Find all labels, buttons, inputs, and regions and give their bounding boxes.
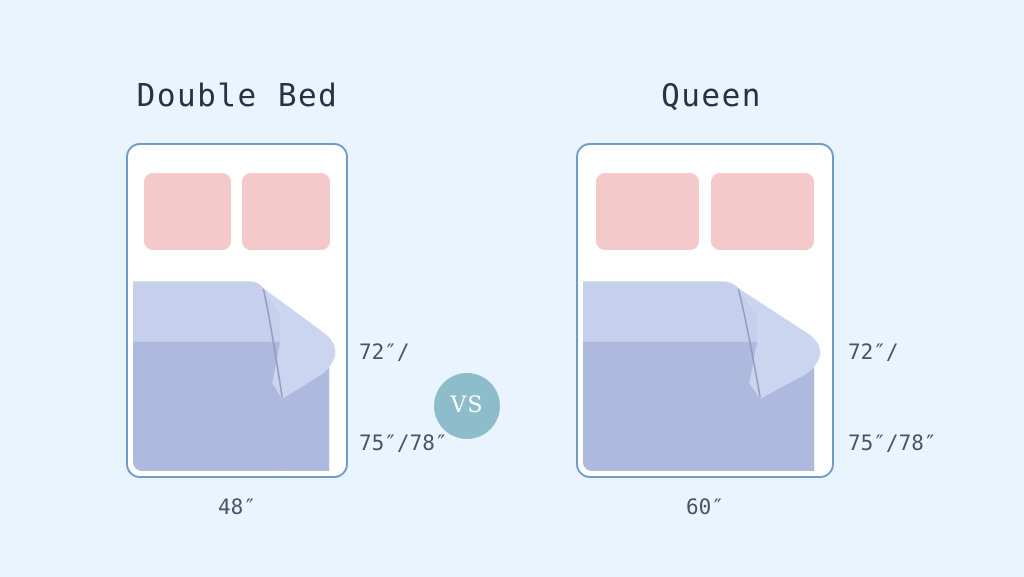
dimension-label-double-width: 48″ — [126, 495, 348, 519]
blanket-illustration — [583, 150, 827, 471]
dimension-line-2: 75″/78″ — [359, 428, 448, 458]
versus-label: VS — [451, 395, 484, 417]
mattress-surface-queen — [583, 150, 827, 471]
versus-badge: VS — [434, 373, 500, 439]
mattress-surface-double — [133, 150, 341, 471]
bed-diagram-double — [126, 143, 348, 478]
dimension-line-1: 72″/ — [359, 337, 448, 367]
bed-diagram-queen — [576, 143, 834, 478]
dimension-label-queen-width: 60″ — [576, 495, 834, 519]
blanket-illustration — [133, 150, 341, 471]
dimension-line-1: 72″/ — [848, 337, 937, 367]
dimension-label-queen-length: 72″/ 75″/78″ — [848, 276, 937, 520]
page-title-double-bed: Double Bed — [0, 78, 475, 114]
bed-comparison-infographic: Double Bed 72″/ 75″/78″ 48″ VS — [0, 0, 1024, 577]
dimension-line-2: 75″/78″ — [848, 428, 937, 458]
page-title-queen-bed: Queen — [500, 78, 923, 114]
